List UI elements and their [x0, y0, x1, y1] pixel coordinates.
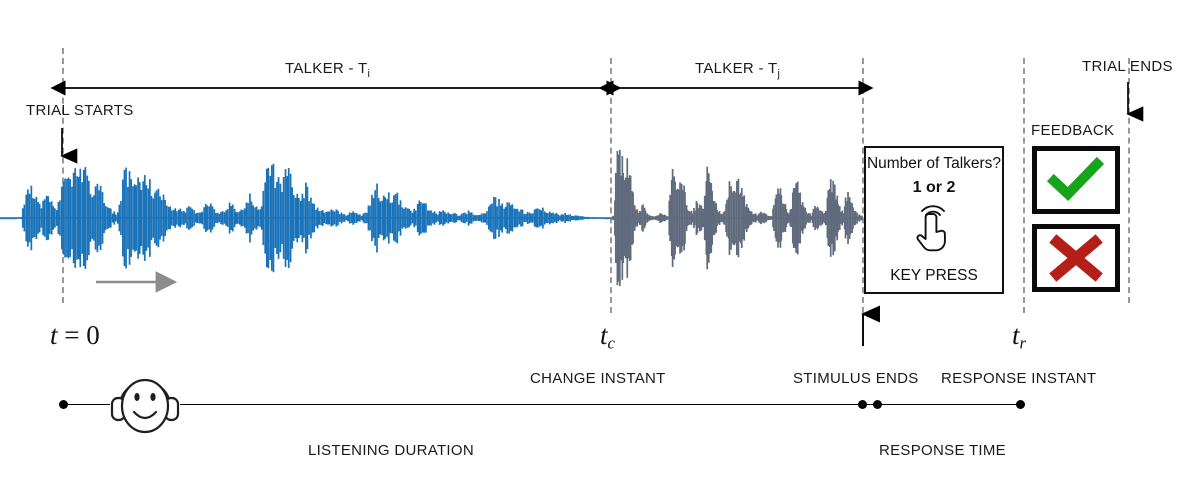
t-c-label: tc — [600, 320, 615, 354]
stimulus-ends-label: STIMULUS ENDS — [793, 370, 919, 387]
stimulus-ends-arrow-icon — [800, 300, 960, 360]
timeline-dot-trial-start — [59, 400, 68, 409]
smiley-headphones-icon — [104, 366, 186, 444]
talker-i-label: TALKER - Ti — [285, 60, 370, 80]
response-time-label: RESPONSE TIME — [879, 442, 1006, 459]
timeline-dot-response-start — [873, 400, 882, 409]
check-mark-icon — [1047, 158, 1105, 202]
tap-hand-icon — [906, 199, 962, 253]
listening-duration-label: LISTENING DURATION — [308, 442, 474, 459]
talker-j-label: TALKER - Tj — [695, 60, 780, 80]
key-press-label: KEY PRESS — [890, 267, 978, 285]
t-r-label: tr — [1012, 320, 1026, 354]
timeline-dot-response-instant — [1016, 400, 1025, 409]
waveform-segment — [610, 150, 863, 286]
cross-mark-icon — [1049, 236, 1103, 280]
feedback-correct-box[interactable] — [1032, 146, 1120, 214]
trial-timeline-diagram: TALKER - Ti TALKER - Tj TRIAL STARTS TRI… — [0, 0, 1182, 504]
change-instant-label: CHANGE INSTANT — [530, 370, 666, 387]
talker-i-span-arrow — [0, 0, 1182, 120]
response-options: 1 or 2 — [913, 179, 956, 197]
response-prompt-box[interactable]: Number of Talkers? 1 or 2 KEY PRESS — [864, 146, 1004, 294]
response-instant-label: RESPONSE INSTANT — [941, 370, 1096, 387]
feedback-incorrect-box[interactable] — [1032, 224, 1120, 292]
feedback-label: FEEDBACK — [1031, 122, 1114, 139]
time-direction-arrow-icon — [0, 260, 220, 300]
timeline-dot-stimulus-ends — [858, 400, 867, 409]
t-zero-label: t = 0 — [50, 320, 100, 351]
response-question: Number of Talkers? — [867, 155, 1001, 173]
